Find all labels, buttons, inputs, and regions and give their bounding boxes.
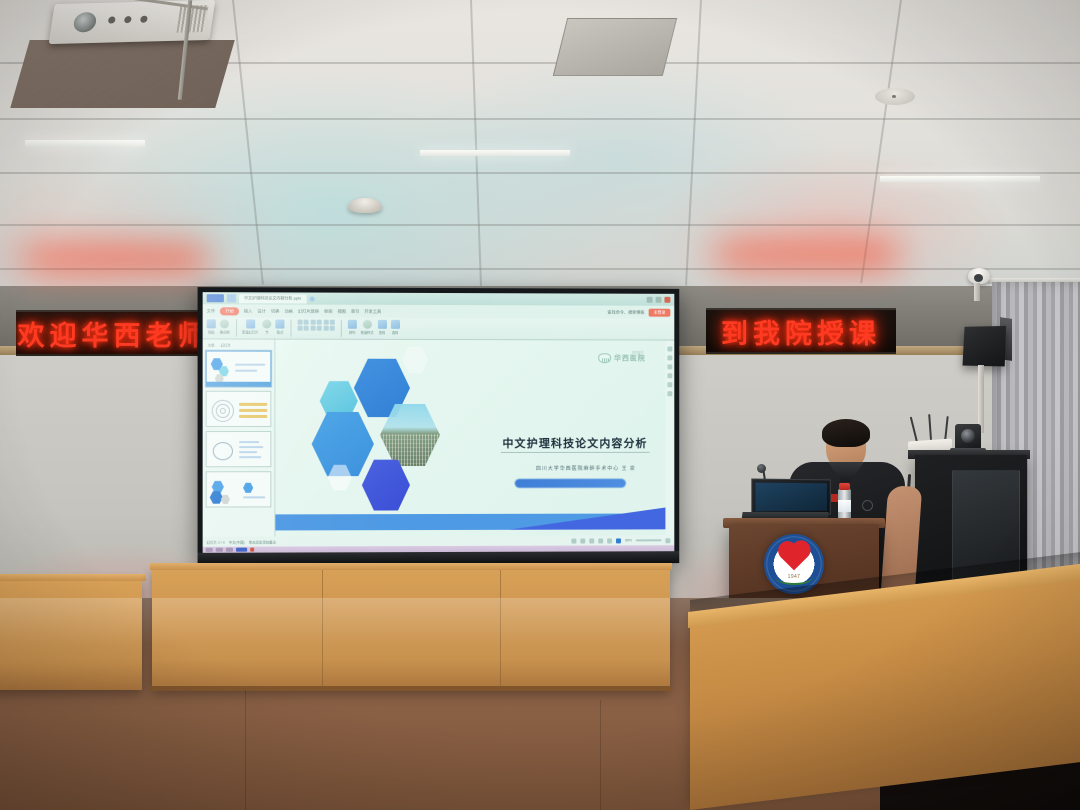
select-icon — [391, 320, 400, 329]
status-zoom-level: 68% — [625, 538, 632, 542]
projection-screen: 中文护理科技论文内容分析.pptx 文件 开始 插入 设计 切换 动画 — [198, 287, 680, 565]
ribbon-group-format-painter[interactable]: 格式刷 — [220, 319, 230, 334]
thumb-target-icon — [220, 408, 226, 414]
section-icon — [262, 319, 271, 328]
speaker-support-pole — [978, 365, 984, 433]
font-size-icon[interactable] — [304, 320, 309, 325]
right-task-rail[interactable] — [665, 341, 674, 536]
status-slide-count: 幻灯片 1 / 4 — [207, 539, 225, 544]
align-center-icon[interactable] — [317, 326, 322, 331]
thumb-text-line — [235, 370, 257, 372]
close-icon[interactable] — [664, 297, 670, 303]
ribbon-toolbar: 粘贴 格式刷 新建幻灯片 节 — [203, 317, 675, 340]
ceiling-tile-line — [0, 268, 1080, 270]
ribbon-group-layout[interactable]: 版式 — [275, 320, 284, 335]
ribbon-label: 格式刷 — [220, 329, 230, 334]
status-notes-hint[interactable]: 单击此处添加备注 — [249, 539, 276, 544]
menu-item-devtools[interactable]: 开发工具 — [364, 308, 381, 314]
water-bottle-label — [838, 500, 851, 512]
ribbon-group-arrange[interactable]: 排列 — [348, 320, 357, 335]
thumb-text-line — [239, 415, 267, 418]
taskbar-search-icon[interactable] — [216, 548, 223, 551]
save-icon[interactable] — [227, 294, 236, 302]
laptop-screen — [751, 479, 830, 516]
maximize-icon[interactable] — [656, 297, 662, 303]
thumb-hex-icon — [221, 494, 230, 504]
normal-view-icon[interactable] — [589, 538, 594, 543]
thumb-circle-icon — [213, 442, 233, 460]
lecture-room-photo: 欢迎华西老师 到我院授课 中文护理科技论文内容分析.pptx — [0, 0, 1080, 810]
text-panel-icon[interactable] — [667, 373, 672, 378]
slide-accent-pill — [515, 479, 626, 488]
slide-title: 中文护理科技论文内容分析 — [502, 435, 647, 451]
bullet-list-icon[interactable] — [297, 326, 302, 331]
hospital-logo-icon — [598, 353, 611, 363]
font-color-icon[interactable] — [330, 320, 335, 325]
thumb-title-line — [235, 364, 265, 366]
thumb-text-line — [243, 496, 265, 498]
dome-camera-mount — [974, 283, 980, 301]
bold-icon[interactable] — [310, 320, 315, 325]
ribbon-label: 排列 — [349, 330, 355, 335]
air-vent — [553, 18, 677, 76]
menu-item-home[interactable]: 开始 — [220, 307, 239, 315]
slide-thumbnail-2[interactable] — [206, 391, 272, 427]
thumb-footer-bar — [207, 382, 271, 386]
menu-item-section[interactable]: 章节 — [351, 308, 359, 314]
menu-item-review[interactable]: 审阅 — [324, 308, 332, 314]
wood-panel-cap — [0, 574, 146, 581]
arrange-icon — [348, 320, 357, 329]
tab-outline[interactable]: 大纲 — [208, 342, 215, 347]
menu-item-slideshow[interactable]: 幻灯片放映 — [298, 308, 319, 314]
ribbon-label: 选择 — [392, 330, 398, 335]
font-family-icon[interactable] — [297, 320, 302, 325]
underline-icon[interactable] — [323, 320, 328, 325]
led-banner-left-text: 欢迎华西老师 — [18, 314, 210, 353]
led-banner-right-text: 到我院授课 — [721, 312, 881, 351]
line-spacing-icon[interactable] — [330, 326, 335, 331]
layout-icon — [275, 320, 284, 329]
number-list-icon[interactable] — [304, 326, 309, 331]
taskbar-media-app[interactable] — [250, 548, 254, 551]
document-tab[interactable]: 中文护理科技论文内容分析.pptx — [239, 294, 306, 303]
notes-toggle-icon[interactable] — [572, 538, 577, 543]
thumb-text-line — [239, 441, 259, 443]
font-controls-row — [297, 320, 335, 325]
cloud-panel-icon[interactable] — [667, 391, 672, 396]
ribbon-label: 新建幻灯片 — [242, 329, 258, 334]
start-button[interactable] — [206, 548, 213, 551]
ribbon-group-section[interactable]: 节 — [262, 319, 271, 334]
ribbon-label: 查找 — [379, 330, 385, 335]
ribbon-label: 版式 — [277, 330, 283, 335]
slide-thumbnail-1[interactable] — [206, 351, 272, 387]
laptop-display-glow — [755, 483, 826, 512]
ceiling-speaker-icon — [875, 88, 915, 105]
ribbon-divider — [291, 320, 292, 337]
menu-item-file[interactable]: 文件 — [207, 308, 215, 314]
presenter-hair — [822, 419, 870, 447]
screen-surface: 中文护理科技论文内容分析.pptx 文件 开始 插入 设计 切换 动画 — [203, 292, 675, 553]
ribbon-group-font[interactable] — [297, 320, 335, 331]
ribbon-group-select[interactable]: 选择 — [391, 320, 400, 335]
slide-hexagon-ghost — [402, 346, 428, 374]
tab-slides[interactable]: 幻灯片 — [221, 343, 231, 348]
microphone-icon — [757, 464, 766, 473]
ribbon-label: 快速样式 — [361, 330, 374, 335]
shapes-panel-icon[interactable] — [667, 355, 672, 360]
window-controls — [647, 297, 671, 303]
zoom-slider[interactable] — [636, 540, 662, 542]
dome-camera-icon — [968, 268, 990, 284]
ribbon-divider — [236, 319, 237, 336]
menu-item-insert[interactable]: 插入 — [244, 308, 252, 314]
ribbon-label: 粘贴 — [208, 329, 214, 334]
thumbnail-panel-header: 大纲 幻灯片 — [206, 342, 272, 347]
menu-item-view[interactable]: 视图 — [337, 308, 345, 314]
ceiling-tile-line — [0, 172, 1080, 174]
thumb-text-line — [239, 409, 267, 412]
status-bar-right: 68% — [572, 538, 671, 543]
thumb-hex-icon — [243, 482, 253, 493]
wps-logo-icon — [207, 294, 224, 302]
led-banner-right: 到我院授课 — [706, 308, 896, 354]
ribbon-group-new-slide[interactable]: 新建幻灯片 — [242, 319, 258, 334]
projector-recess — [10, 40, 234, 108]
reading-view-icon[interactable] — [607, 538, 612, 543]
smoke-detector-icon — [348, 198, 382, 213]
ceiling-light-strip — [880, 176, 1040, 182]
find-icon — [377, 320, 386, 329]
wood-panel-cap — [150, 563, 672, 570]
paste-icon — [207, 319, 216, 328]
align-left-icon[interactable] — [310, 326, 315, 331]
align-right-icon[interactable] — [323, 326, 328, 331]
menu-item-design[interactable]: 设计 — [257, 308, 265, 314]
comments-icon[interactable] — [581, 538, 586, 543]
slide-title-underline — [501, 452, 650, 453]
search-command-input[interactable]: 查找命令、搜索模板 — [607, 309, 644, 315]
thumb-text-line — [239, 451, 257, 453]
italic-icon[interactable] — [317, 320, 322, 325]
projector-indicator — [124, 16, 132, 23]
wps-presentation-window[interactable]: 中文护理科技论文内容分析.pptx 文件 开始 插入 设计 切换 动画 — [203, 292, 675, 553]
slide-logo-text: 华西医院 — [614, 353, 646, 363]
slide-hexagon-indigo — [362, 458, 410, 512]
projector-indicator — [140, 16, 148, 23]
ceiling-tile-line — [0, 224, 1080, 226]
new-slide-icon — [246, 319, 255, 328]
projector-lens — [72, 12, 97, 33]
shirt-red-tag — [831, 494, 838, 502]
sorter-view-icon[interactable] — [598, 538, 603, 543]
ceiling-light-strip — [25, 140, 145, 147]
slide-logo-subtext: 西南医科 — [632, 350, 644, 354]
ribbon-group-quick-style[interactable]: 快速样式 — [361, 320, 374, 335]
projector-indicator — [108, 16, 116, 23]
paragraph-controls-row — [297, 326, 335, 331]
slide-thumbnail-panel[interactable]: 大纲 幻灯片 — [203, 339, 276, 536]
quick-style-icon — [363, 320, 372, 329]
chart-panel-icon[interactable] — [667, 364, 672, 369]
menu-bar-right: 查找命令、搜索模板 未登录 — [607, 308, 670, 316]
slide-thumbnail-4[interactable] — [206, 471, 272, 507]
slide-subtitle: 四川大学华西医院麻醉手术中心 王 泉 — [536, 465, 636, 472]
wall-speaker — [963, 326, 1007, 367]
ribbon-divider — [341, 320, 342, 337]
slideshow-play-icon[interactable] — [616, 538, 621, 543]
design-ideas-icon[interactable] — [667, 346, 672, 351]
new-tab-icon[interactable] — [309, 296, 314, 301]
membership-button[interactable]: 未登录 — [649, 308, 671, 316]
ceiling-tile-line — [0, 118, 1080, 120]
ceiling-light-strip — [420, 150, 570, 156]
menu-item-transition[interactable]: 切换 — [271, 308, 279, 314]
floor-tile-seam — [600, 700, 601, 810]
slide-logo: 华西医院 西南医科 — [598, 353, 645, 363]
minimize-icon[interactable] — [647, 297, 653, 303]
slide-thumbnail-3[interactable] — [206, 431, 272, 467]
fit-to-window-icon[interactable] — [665, 538, 670, 543]
ribbon-group-paste[interactable]: 粘贴 — [207, 319, 216, 334]
taskbar-explorer-icon[interactable] — [226, 548, 233, 551]
menu-item-animation[interactable]: 动画 — [284, 308, 292, 314]
thumb-text-line — [239, 403, 267, 406]
emblem-year-text: 1947 — [788, 574, 801, 580]
ribbon-label: 节 — [265, 330, 268, 335]
floor-tile-seam — [245, 690, 246, 810]
status-language[interactable]: 中文(中国) — [229, 539, 245, 544]
shirt-logo-icon — [862, 500, 873, 511]
led-banner-left: 欢迎华西老师 — [16, 310, 211, 356]
water-bottle-cap — [839, 483, 850, 490]
media-panel-icon[interactable] — [667, 382, 672, 387]
taskbar-wps-window[interactable] — [236, 548, 247, 551]
format-painter-icon — [220, 319, 229, 328]
slide-canvas[interactable]: 华西医院 西南医科 中文护理科技论文内容分析 四川大学华西医院麻醉手术中心 王 … — [275, 340, 665, 537]
thumb-text-line — [239, 446, 263, 448]
ribbon-group-find[interactable]: 查找 — [377, 320, 386, 335]
thumb-text-line — [239, 456, 261, 458]
